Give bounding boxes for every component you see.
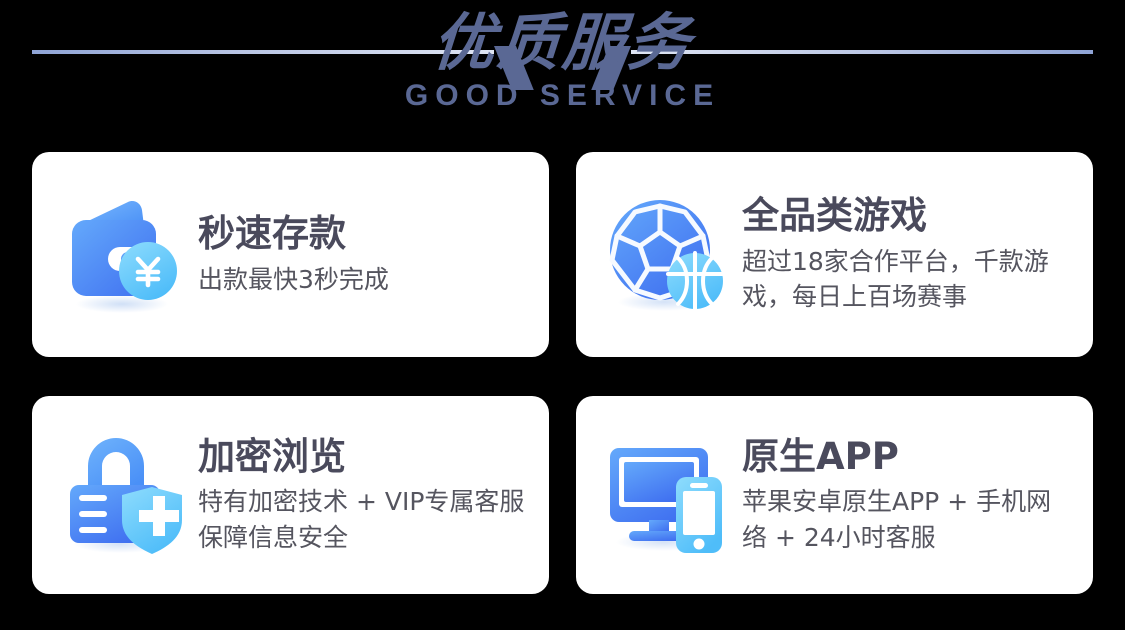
soccer-basketball-icon bbox=[602, 192, 734, 318]
monitor-phone-icon bbox=[602, 432, 734, 558]
feature-card-games[interactable]: 全品类游戏 超过18家合作平台，千款游戏，每日上百场赛事 bbox=[576, 152, 1093, 357]
lock-shield-icon bbox=[58, 432, 190, 558]
card-title: 全品类游戏 bbox=[742, 194, 1075, 238]
card-description: 超过18家合作平台，千款游戏，每日上百场赛事 bbox=[742, 244, 1072, 315]
card-description: 出款最快3秒完成 bbox=[198, 262, 531, 298]
card-title: 加密浏览 bbox=[198, 435, 531, 479]
page-subtitle: GOOD SERVICE bbox=[0, 79, 1125, 112]
card-text-block: 秒速存款 出款最快3秒完成 bbox=[198, 212, 531, 297]
feature-card-grid: 秒速存款 出款最快3秒完成 bbox=[32, 152, 1093, 594]
feature-card-native-app[interactable]: 原生APP 苹果安卓原生APP + 手机网络 + 24小时客服 bbox=[576, 396, 1093, 594]
card-text-block: 加密浏览 特有加密技术 + VIP专属客服保障信息安全 bbox=[198, 435, 531, 556]
page-header: 优质服务 GOOD SERVICE bbox=[0, 0, 1125, 150]
card-description: 特有加密技术 + VIP专属客服保障信息安全 bbox=[198, 484, 528, 555]
card-text-block: 全品类游戏 超过18家合作平台，千款游戏，每日上百场赛事 bbox=[742, 194, 1075, 315]
feature-card-encryption[interactable]: 加密浏览 特有加密技术 + VIP专属客服保障信息安全 bbox=[32, 396, 549, 594]
page-title: 优质服务 bbox=[0, 8, 1125, 77]
card-title: 秒速存款 bbox=[198, 212, 531, 256]
wallet-icon bbox=[58, 192, 190, 318]
page-root: 优质服务 GOOD SERVICE bbox=[0, 0, 1125, 630]
card-text-block: 原生APP 苹果安卓原生APP + 手机网络 + 24小时客服 bbox=[742, 435, 1075, 556]
feature-card-deposit[interactable]: 秒速存款 出款最快3秒完成 bbox=[32, 152, 549, 357]
card-description: 苹果安卓原生APP + 手机网络 + 24小时客服 bbox=[742, 484, 1072, 555]
header-title-block: 优质服务 GOOD SERVICE bbox=[0, 8, 1125, 112]
card-title: 原生APP bbox=[742, 435, 1075, 479]
